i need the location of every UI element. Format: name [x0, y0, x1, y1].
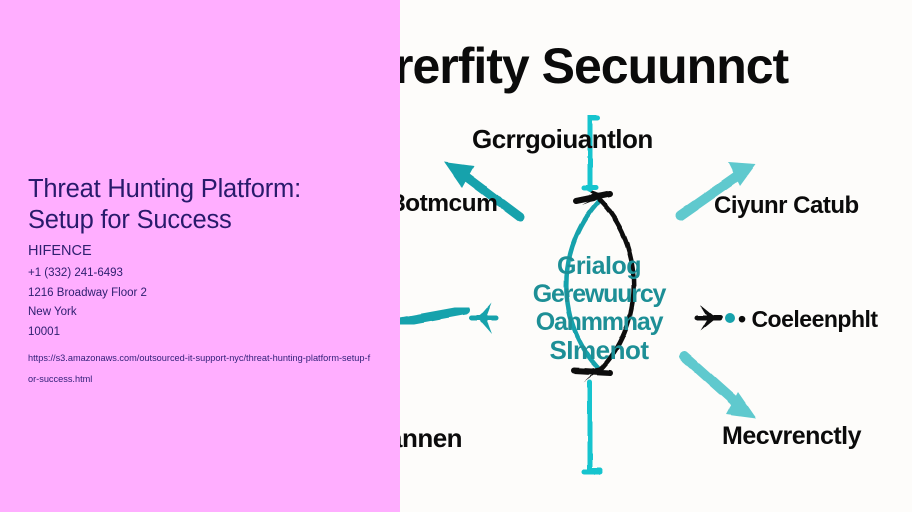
center-line-3: Oanmmnay — [506, 308, 692, 336]
illustration-panel: rerfity Secuunnct Gcrrgoiuantlon 3otmcum… — [400, 0, 912, 512]
page-title: Threat Hunting Platform: Setup for Succe… — [28, 174, 320, 236]
phone-number[interactable]: +1 (332) 241-6493 — [28, 264, 378, 284]
address-zip: 10001 — [28, 323, 378, 343]
cycle-arrowhead-right-icon — [697, 305, 720, 331]
diagram-center-text: Grialog Gerewuurcy Oanmmnay SImenot — [506, 252, 692, 364]
diagram-label-right-top: Ciyunr Catub — [714, 192, 859, 220]
center-line-1: Grialog — [506, 252, 692, 280]
screenshot-root: Threat Hunting Platform: Setup for Succe… — [0, 0, 912, 512]
bullet-dot-icon — [725, 313, 735, 323]
outer-arrow-left-edge-icon — [400, 310, 466, 322]
address-city: New York — [28, 303, 378, 323]
center-line-2: Gerewuurcy — [506, 280, 692, 308]
outer-arrow-bottom-right-icon — [684, 356, 756, 418]
illustration-subheading: Gcrrgoiuantlon — [472, 124, 653, 155]
diagram-label-right-mid: • Coeleenphlt — [738, 306, 878, 333]
diagram-label-left-bottom: annen — [400, 423, 462, 454]
outer-arrow-down-icon — [584, 382, 600, 472]
article-info-content: Threat Hunting Platform: Setup for Succe… — [28, 174, 378, 390]
cycle-arrowhead-left-icon — [472, 302, 496, 334]
address-street: 1216 Broadway Floor 2 — [28, 284, 378, 304]
center-line-4: SImenot — [506, 336, 692, 364]
illustration-heading: rerfity Secuunnct — [400, 37, 788, 95]
diagram-label-left-top: 3otmcum — [400, 190, 497, 218]
source-url-link[interactable]: https://s3.amazonaws.com/outsourced-it-s… — [28, 348, 373, 390]
article-info-panel: Threat Hunting Platform: Setup for Succe… — [0, 0, 400, 512]
diagram-label-right-bottom: Mecvrenctly — [722, 422, 861, 451]
cycle-arrowhead-bottom-icon — [574, 366, 610, 382]
brand-name: HIFENCE — [28, 242, 378, 261]
